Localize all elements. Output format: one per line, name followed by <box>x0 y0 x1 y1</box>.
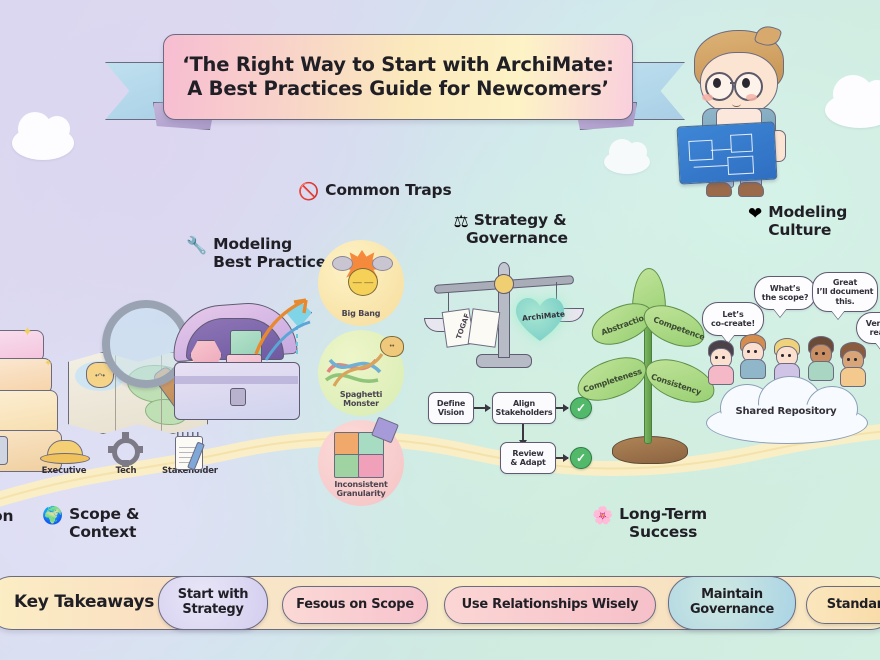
blueprint-diagram <box>677 121 778 184</box>
balance-scale-graphic: TOGAF ArchiMate <box>428 258 578 378</box>
growth-arrows <box>250 288 330 368</box>
balance-scale-icon: ⚖ <box>453 213 468 230</box>
shared-repository-cloud: Shared Repository <box>706 380 866 442</box>
trap-big-bang: — — Big Bang <box>318 240 404 326</box>
section-best-practices-label: Modeling Best Practices <box>213 236 335 271</box>
speech-bubble-scope: What’s the scope? <box>754 276 816 310</box>
section-governance: ⚖ Strategy & Governance <box>452 212 568 248</box>
blueprint-node <box>688 140 713 161</box>
mouth <box>732 101 741 107</box>
section-scope: 🌍 Scope & Context <box>42 506 139 541</box>
title-banner: ‘The Right Way to Start with ArchiMate: … <box>105 28 685 132</box>
eye <box>713 78 721 88</box>
flow-arrow <box>522 424 524 440</box>
bp-line1: Modeling <box>213 236 335 254</box>
page-title: ‘The Right Way to Start with ArchiMate: … <box>174 53 622 101</box>
persona-executive: Executive <box>38 428 90 490</box>
section-layers-label: on <box>0 508 13 526</box>
blueprint-link <box>711 149 731 151</box>
takeaways-label: Key Takeaways <box>14 592 154 612</box>
lock-icon <box>230 388 246 406</box>
gov-line2: Governance <box>466 230 568 248</box>
section-traps: 🚫 Common Traps <box>298 182 451 200</box>
lt-line2: Success <box>619 524 707 542</box>
speech-bubble-document: Great I’ll document this. <box>812 272 878 312</box>
kid-avatar <box>838 342 866 384</box>
shoe <box>738 182 764 197</box>
cloud-icon <box>12 126 74 160</box>
trap-inconsistent-granularity: Inconsistent Granularity <box>318 420 404 506</box>
flow-arrow <box>556 407 568 409</box>
persona-tech: Tech <box>100 428 152 490</box>
section-scope-line1: Scope & <box>69 506 139 524</box>
section-long-term-label: Long-Term Success <box>619 506 707 541</box>
takeaway-pill-use-relationships-wisely[interactable]: Use Relationships Wisely <box>444 586 656 624</box>
kid-avatar <box>706 340 734 382</box>
cloud-icon <box>604 150 650 174</box>
flow-arrow <box>474 407 490 409</box>
blueprint-link <box>694 165 728 168</box>
puzzle-icon <box>334 432 390 478</box>
chest-band <box>174 376 298 384</box>
trap-label: Spaghetti Monster <box>340 391 382 409</box>
kid-avatar <box>738 334 766 376</box>
globe-icon: 🌍 <box>42 507 63 524</box>
flow-step-review-adapt: Review & Adapt <box>500 442 556 474</box>
repository-label: Shared Repository <box>706 406 866 417</box>
speech-bubble-version: Version ready <box>856 312 880 344</box>
cheek-blush <box>746 94 757 101</box>
persona-label: Executive <box>38 466 90 476</box>
flow-step-define-vision: Define Vision <box>428 392 474 424</box>
seedling-icon: 🌸 <box>592 507 613 524</box>
trap-label: Big Bang <box>342 310 381 319</box>
prohibited-icon: 🚫 <box>298 183 319 200</box>
banner-plate: ‘The Right Way to Start with ArchiMate: … <box>163 34 633 120</box>
takeaway-pill-start-with-strategy[interactable]: Start with Strategy <box>158 576 268 630</box>
shoe <box>706 182 732 197</box>
kid-avatar <box>806 336 834 378</box>
blueprint-node <box>727 156 754 175</box>
section-traps-label: Common Traps <box>325 182 451 200</box>
section-culture-label: Modeling Culture <box>768 204 847 239</box>
lt-line1: Long-Term <box>619 506 707 524</box>
explosion-icon: — — <box>336 250 386 294</box>
heart-icon: ❤ <box>748 205 762 222</box>
takeaway-pill-focus-on-scope[interactable]: Fesous on Scope <box>282 586 428 624</box>
takeaway-pill-maintain-governance[interactable]: Maintain Governance <box>668 576 796 630</box>
boy-architect-character <box>672 26 802 198</box>
takeaway-pill-standardize[interactable]: Standardiz <box>806 586 880 624</box>
flow-step-align-stakeholders: Align Stakeholders <box>492 392 556 424</box>
eye <box>742 78 750 88</box>
culture-group: Let’s co-create! What’s the scope? Great… <box>696 262 880 472</box>
togaf-book-icon: TOGAF <box>444 310 498 346</box>
sparkle-icon: ✦ <box>22 324 33 340</box>
trap-spaghetti-monster: •• Spaghetti Monster <box>318 330 404 416</box>
section-long-term: 🌸 Long-Term Success <box>592 506 707 541</box>
cu-line2: Culture <box>768 222 847 240</box>
blueprint-node <box>730 134 753 153</box>
hat-icon <box>38 428 90 466</box>
scale-pivot <box>494 274 514 294</box>
persona-label: Tech <box>100 466 152 476</box>
glasses-bridge <box>730 82 736 84</box>
flow-arrow <box>556 457 568 459</box>
spaghetti-icon <box>324 342 386 390</box>
kid-avatar <box>772 338 800 380</box>
speech-bubble-co-create: Let’s co-create! <box>702 302 764 336</box>
section-scope-line2: Context <box>69 524 139 542</box>
section-scope-label: Scope & Context <box>69 506 139 541</box>
section-layers: on <box>0 508 13 526</box>
archimate-heart-icon: ArchiMate <box>516 298 564 342</box>
cheek-blush <box>702 94 713 101</box>
cu-line1: Modeling <box>768 204 847 222</box>
infographic-canvas: ‘The Right Way to Start with ArchiMate: … <box>0 0 880 660</box>
technology-monitor-icon <box>0 436 8 465</box>
section-culture: ❤ Modeling Culture <box>748 204 847 239</box>
wrench-icon: 🔧 <box>186 237 207 254</box>
page-title-line2: A Best Practices Guide for Newcomers’ <box>174 77 622 101</box>
page-title-line1: ‘The Right Way to Start with ArchiMate: <box>174 53 622 77</box>
bp-line2: Best Practices <box>213 254 335 272</box>
blob-face-icon: •• <box>380 336 404 357</box>
gear-icon <box>100 428 152 466</box>
gov-line1: Strategy & <box>474 212 567 230</box>
section-best-practices: 🔧 Modeling Best Practices <box>186 236 335 271</box>
cloud-icon <box>825 92 880 128</box>
trap-label: Inconsistent Granularity <box>334 481 387 499</box>
